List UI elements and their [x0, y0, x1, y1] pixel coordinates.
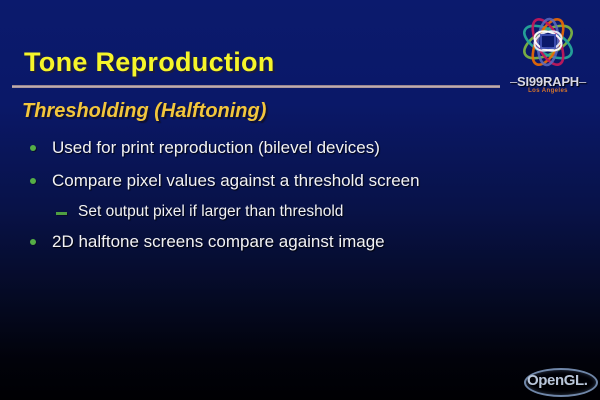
wordmark-text: SI99RAPH	[517, 74, 579, 89]
list-item: Compare pixel values against a threshold…	[30, 169, 550, 194]
bullet-dot-icon	[30, 239, 36, 245]
siggraph-wordmark: –SI99RAPH–	[500, 74, 596, 89]
list-item: Used for print reproduction (bilevel dev…	[30, 136, 550, 161]
bullet-dot-icon	[30, 178, 36, 184]
bullet-dot-icon	[30, 145, 36, 151]
wordmark-dash-left: –	[510, 74, 517, 89]
title-divider	[12, 85, 500, 88]
slide-canvas: Tone Reproduction Thresholding (Halftoni…	[0, 0, 600, 400]
opengl-logo: OpenGL.	[524, 366, 596, 396]
siggraph-city-label: Los Angeles	[500, 88, 596, 94]
bullet-dash-icon	[56, 212, 67, 215]
slide-subtitle: Thresholding (Halftoning)	[22, 100, 266, 123]
siggraph-logo: –SI99RAPH– Los Angeles	[500, 8, 596, 104]
list-item-label: Used for print reproduction (bilevel dev…	[52, 136, 380, 161]
siggraph-rings-icon	[500, 8, 596, 78]
sub-list-item-label: Set output pixel if larger than threshol…	[78, 201, 343, 223]
wordmark-dash-right: –	[579, 74, 586, 89]
opengl-wordmark: OpenGL.	[527, 372, 597, 389]
list-item-label: 2D halftone screens compare against imag…	[52, 230, 385, 255]
bullet-list: Used for print reproduction (bilevel dev…	[30, 136, 550, 262]
list-item-label: Compare pixel values against a threshold…	[52, 169, 420, 194]
sub-list-item: Set output pixel if larger than threshol…	[30, 201, 550, 223]
page-title: Tone Reproduction	[24, 47, 275, 78]
list-item: 2D halftone screens compare against imag…	[30, 230, 550, 255]
